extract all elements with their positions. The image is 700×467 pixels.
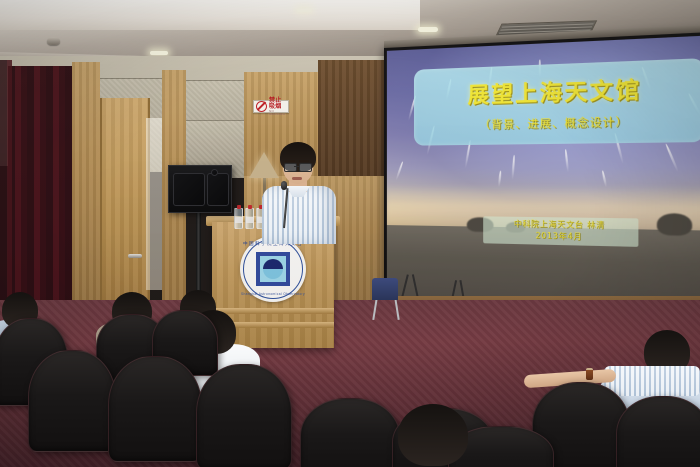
auditorium-seat[interactable] [616,396,700,467]
downlight-icon [297,8,311,12]
water-bottle[interactable] [245,208,254,229]
blue-side-chair[interactable] [372,278,398,300]
star-trail [396,161,404,181]
audience-sleeve [604,366,700,396]
presenter-mouth [292,177,302,180]
microphone-icon [281,181,287,190]
wood-wall-left [72,62,100,312]
speaker-cone [173,173,205,206]
podium-trim [212,308,334,314]
star-trail [511,154,515,179]
water-bottle[interactable] [234,208,243,229]
ceiling-recess [0,0,420,30]
star-trail [602,170,608,187]
pa-speaker [168,165,232,213]
stage-curtain [8,66,72,312]
speaker-cone [207,173,229,206]
downlight-icon [418,27,438,32]
wristwatch-icon [586,368,593,380]
speaker-tweeter [211,169,218,176]
auditorium-seat[interactable] [108,356,202,462]
audience-head [398,404,468,466]
presenter-eyebrow [299,160,309,162]
no-smoking-icon [256,101,267,112]
eyeglasses-icon [299,163,312,172]
slide-title-box: 展望上海天文馆 （背景、进展、概念设计） [414,58,700,145]
eyeglasses-icon [284,163,297,172]
downlight-icon [150,51,168,55]
auditorium-seat[interactable] [196,364,292,467]
auditorium-seat[interactable] [28,350,116,452]
auditorium-door[interactable] [100,98,150,314]
wall-sconce-icon [249,152,279,178]
bottle-label [235,217,242,223]
slide-subtitle: （背景、进展、概念设计） [479,114,628,133]
stage-curtain-edge [0,60,12,315]
slide-title: 展望上海天文馆 [468,73,642,110]
speaker-stand-pole [196,208,201,292]
auditorium-seat[interactable] [300,398,400,467]
door-handle-icon[interactable] [128,254,142,258]
no-smoking-sign: 禁止吸烟 NO SMOKING [253,100,289,113]
presentation-slide: 展望上海天文馆 （背景、进展、概念设计） 中科院上海天文台 林清 2013年4月 [387,35,700,316]
emblem-ring [243,239,303,299]
no-smoking-label-en: NO SMOKING [269,110,286,116]
no-smoking-label-cn: 禁止吸烟 [269,98,282,110]
bottle-label [246,217,253,223]
auditorium-photo: 禁止吸烟 NO SMOKING [0,0,700,467]
eyeglasses-bridge [294,166,299,167]
slide-tree-silhouette [657,213,692,236]
star-trail [564,149,569,173]
emblem-label-en: Shanghai Astronomical Observatory [240,292,306,296]
slide-credit-box: 中科院上海天文台 林清 2013年4月 [483,217,639,247]
smoke-detector-icon [47,37,60,45]
observatory-emblem: 中国科学院上海天文台 Shanghai Astronomical Observa… [240,236,306,302]
slide-credit-date: 2013年4月 [483,228,639,243]
presenter-eyebrow [285,160,295,162]
star-trail [665,143,679,173]
star-trail [498,170,502,187]
projection-screen: 展望上海天文馆 （背景、进展、概念设计） 中科院上海天文台 林清 2013年4月 [384,31,700,327]
